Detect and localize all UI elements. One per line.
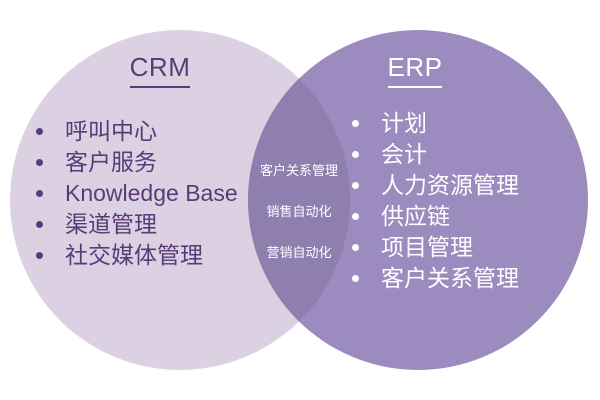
bullet-icon — [352, 213, 359, 220]
crm-item-label: 客户服务 — [65, 147, 157, 178]
list-item: 计划 — [352, 108, 582, 139]
bullet-icon — [36, 252, 43, 259]
bullet-icon — [352, 120, 359, 127]
crm-title: CRM — [100, 52, 220, 88]
bullet-icon — [36, 221, 43, 228]
erp-title: ERP — [355, 52, 475, 88]
crm-feature-list: 呼叫中心 客户服务 Knowledge Base 渠道管理 社交媒体管理 — [36, 116, 266, 271]
erp-title-label: ERP — [388, 52, 443, 88]
intersection-item-label: 营销自动化 — [249, 245, 349, 260]
crm-title-label: CRM — [130, 52, 191, 88]
list-item: Knowledge Base — [36, 178, 266, 209]
crm-item-label: 渠道管理 — [65, 209, 157, 240]
bullet-icon — [36, 128, 43, 135]
intersection-item-label: 销售自动化 — [249, 204, 349, 219]
bullet-icon — [352, 182, 359, 189]
bullet-icon — [352, 275, 359, 282]
list-item: 社交媒体管理 — [36, 240, 266, 271]
bullet-icon — [352, 151, 359, 158]
intersection-label-list: 客户关系管理 销售自动化 营销自动化 — [249, 163, 349, 260]
list-item: 呼叫中心 — [36, 116, 266, 147]
crm-item-label: 呼叫中心 — [65, 116, 157, 147]
erp-item-label: 供应链 — [381, 201, 450, 232]
bullet-icon — [36, 190, 43, 197]
venn-diagram: CRM ERP 呼叫中心 客户服务 Knowledge Base 渠道管理 社交… — [0, 0, 600, 400]
list-item: 会计 — [352, 139, 582, 170]
list-item: 客户服务 — [36, 147, 266, 178]
list-item: 项目管理 — [352, 232, 582, 263]
erp-item-label: 项目管理 — [381, 232, 473, 263]
list-item: 人力资源管理 — [352, 170, 582, 201]
list-item: 客户关系管理 — [352, 263, 582, 294]
erp-item-label: 计划 — [381, 108, 427, 139]
list-item: 供应链 — [352, 201, 582, 232]
intersection-item-label: 客户关系管理 — [249, 163, 349, 178]
erp-feature-list: 计划 会计 人力资源管理 供应链 项目管理 客户关系管理 — [352, 108, 582, 294]
erp-item-label: 会计 — [381, 139, 427, 170]
list-item: 渠道管理 — [36, 209, 266, 240]
bullet-icon — [36, 159, 43, 166]
crm-item-label: Knowledge Base — [65, 178, 238, 209]
bullet-icon — [352, 244, 359, 251]
erp-item-label: 人力资源管理 — [381, 170, 519, 201]
erp-item-label: 客户关系管理 — [381, 263, 519, 294]
crm-item-label: 社交媒体管理 — [65, 240, 203, 271]
